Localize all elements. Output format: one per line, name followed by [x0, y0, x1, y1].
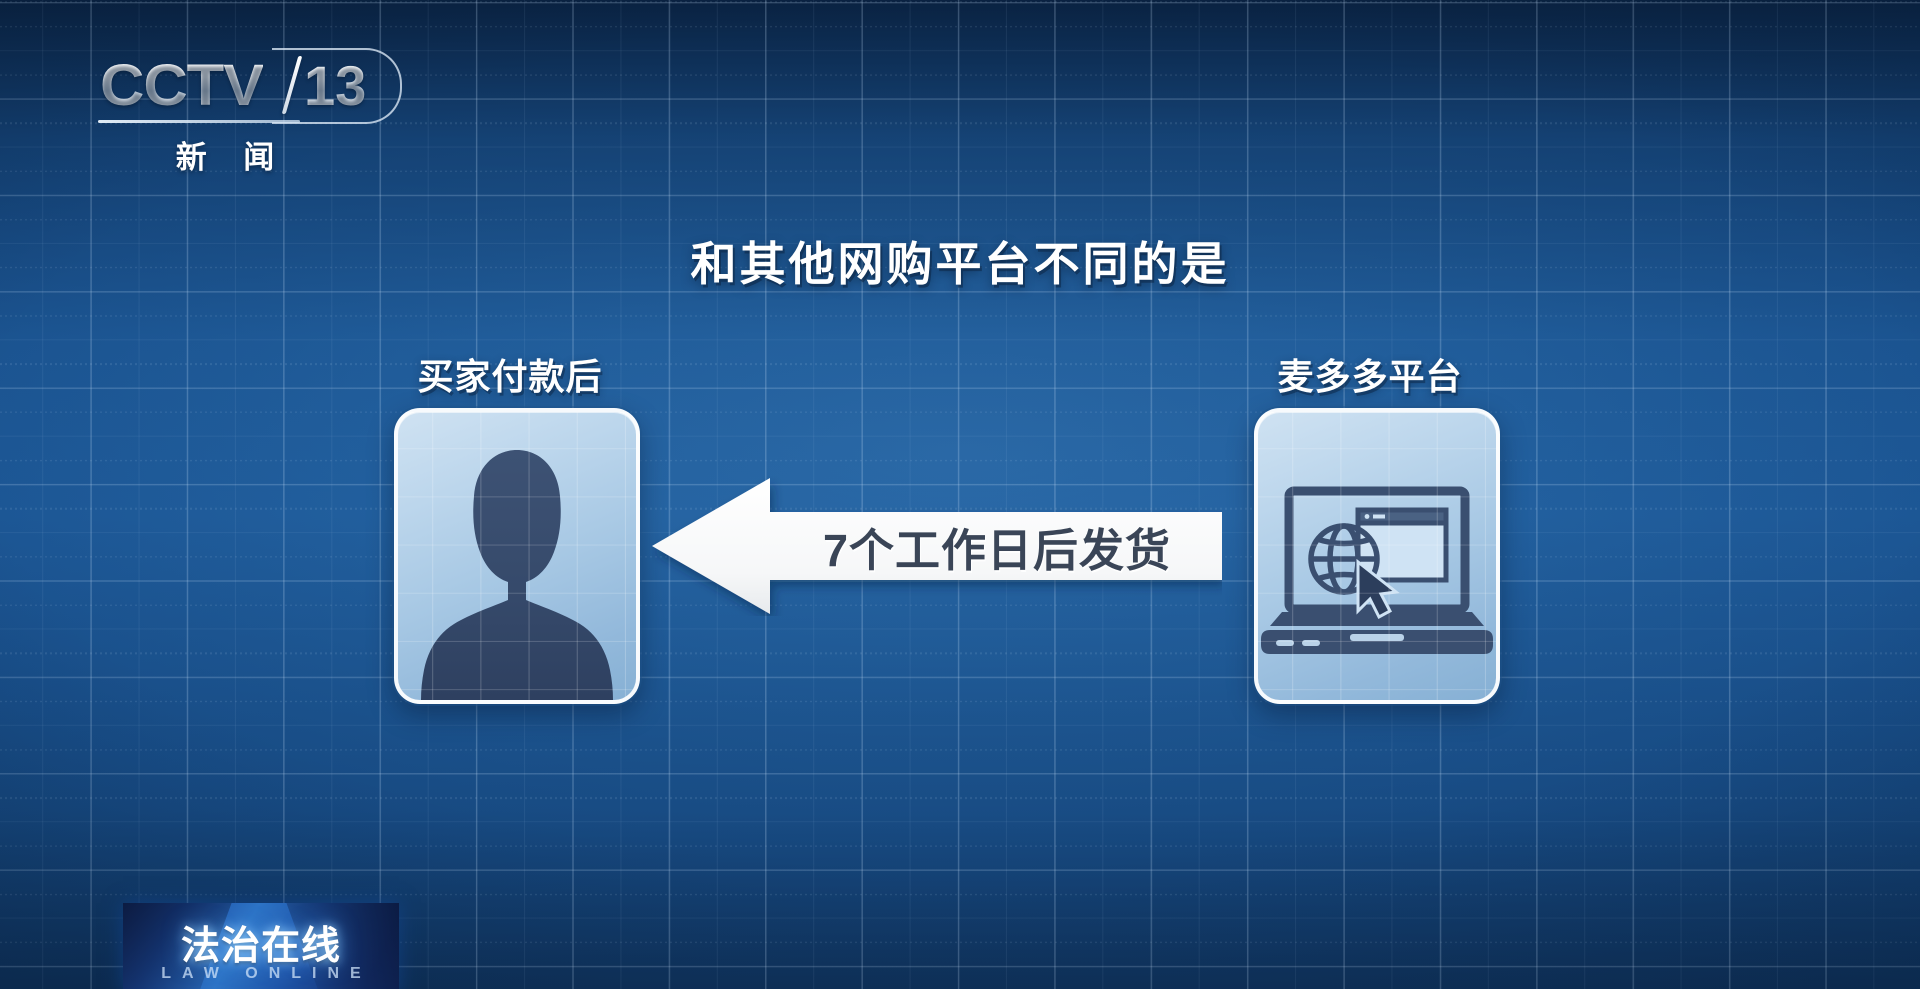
node-label-platform: 麦多多平台: [1160, 348, 1580, 400]
person-silhouette-icon: [398, 412, 636, 700]
node-label-buyer: 买家付款后: [300, 348, 720, 400]
left-arrow-shape: [652, 476, 1222, 616]
laptop-globe-browser-icon: [1258, 412, 1496, 700]
broadcast-screen: CCTV 13 新 闻 和其他网购平台不同的是 买家付款后 麦多多平台: [0, 0, 1920, 989]
flow-arrow: 7个工作日后发货: [652, 476, 1222, 616]
program-banner: 法治在线 LAW ONLINE: [123, 903, 399, 989]
channel-logo-row: CCTV 13: [96, 58, 396, 124]
headline-text: 和其他网购平台不同的是: [0, 228, 1920, 294]
node-card-buyer: [394, 408, 640, 704]
channel-logo: CCTV 13 新 闻: [96, 58, 396, 183]
channel-number: 13: [304, 53, 366, 118]
program-banner-title-en: LAW ONLINE: [123, 965, 399, 983]
cctv-wordmark: CCTV: [100, 52, 263, 119]
program-banner-title-cn: 法治在线: [123, 915, 399, 971]
node-card-platform: [1254, 408, 1500, 704]
channel-subtitle: 新 闻: [140, 132, 310, 177]
channel-logo-underline: [98, 120, 300, 123]
